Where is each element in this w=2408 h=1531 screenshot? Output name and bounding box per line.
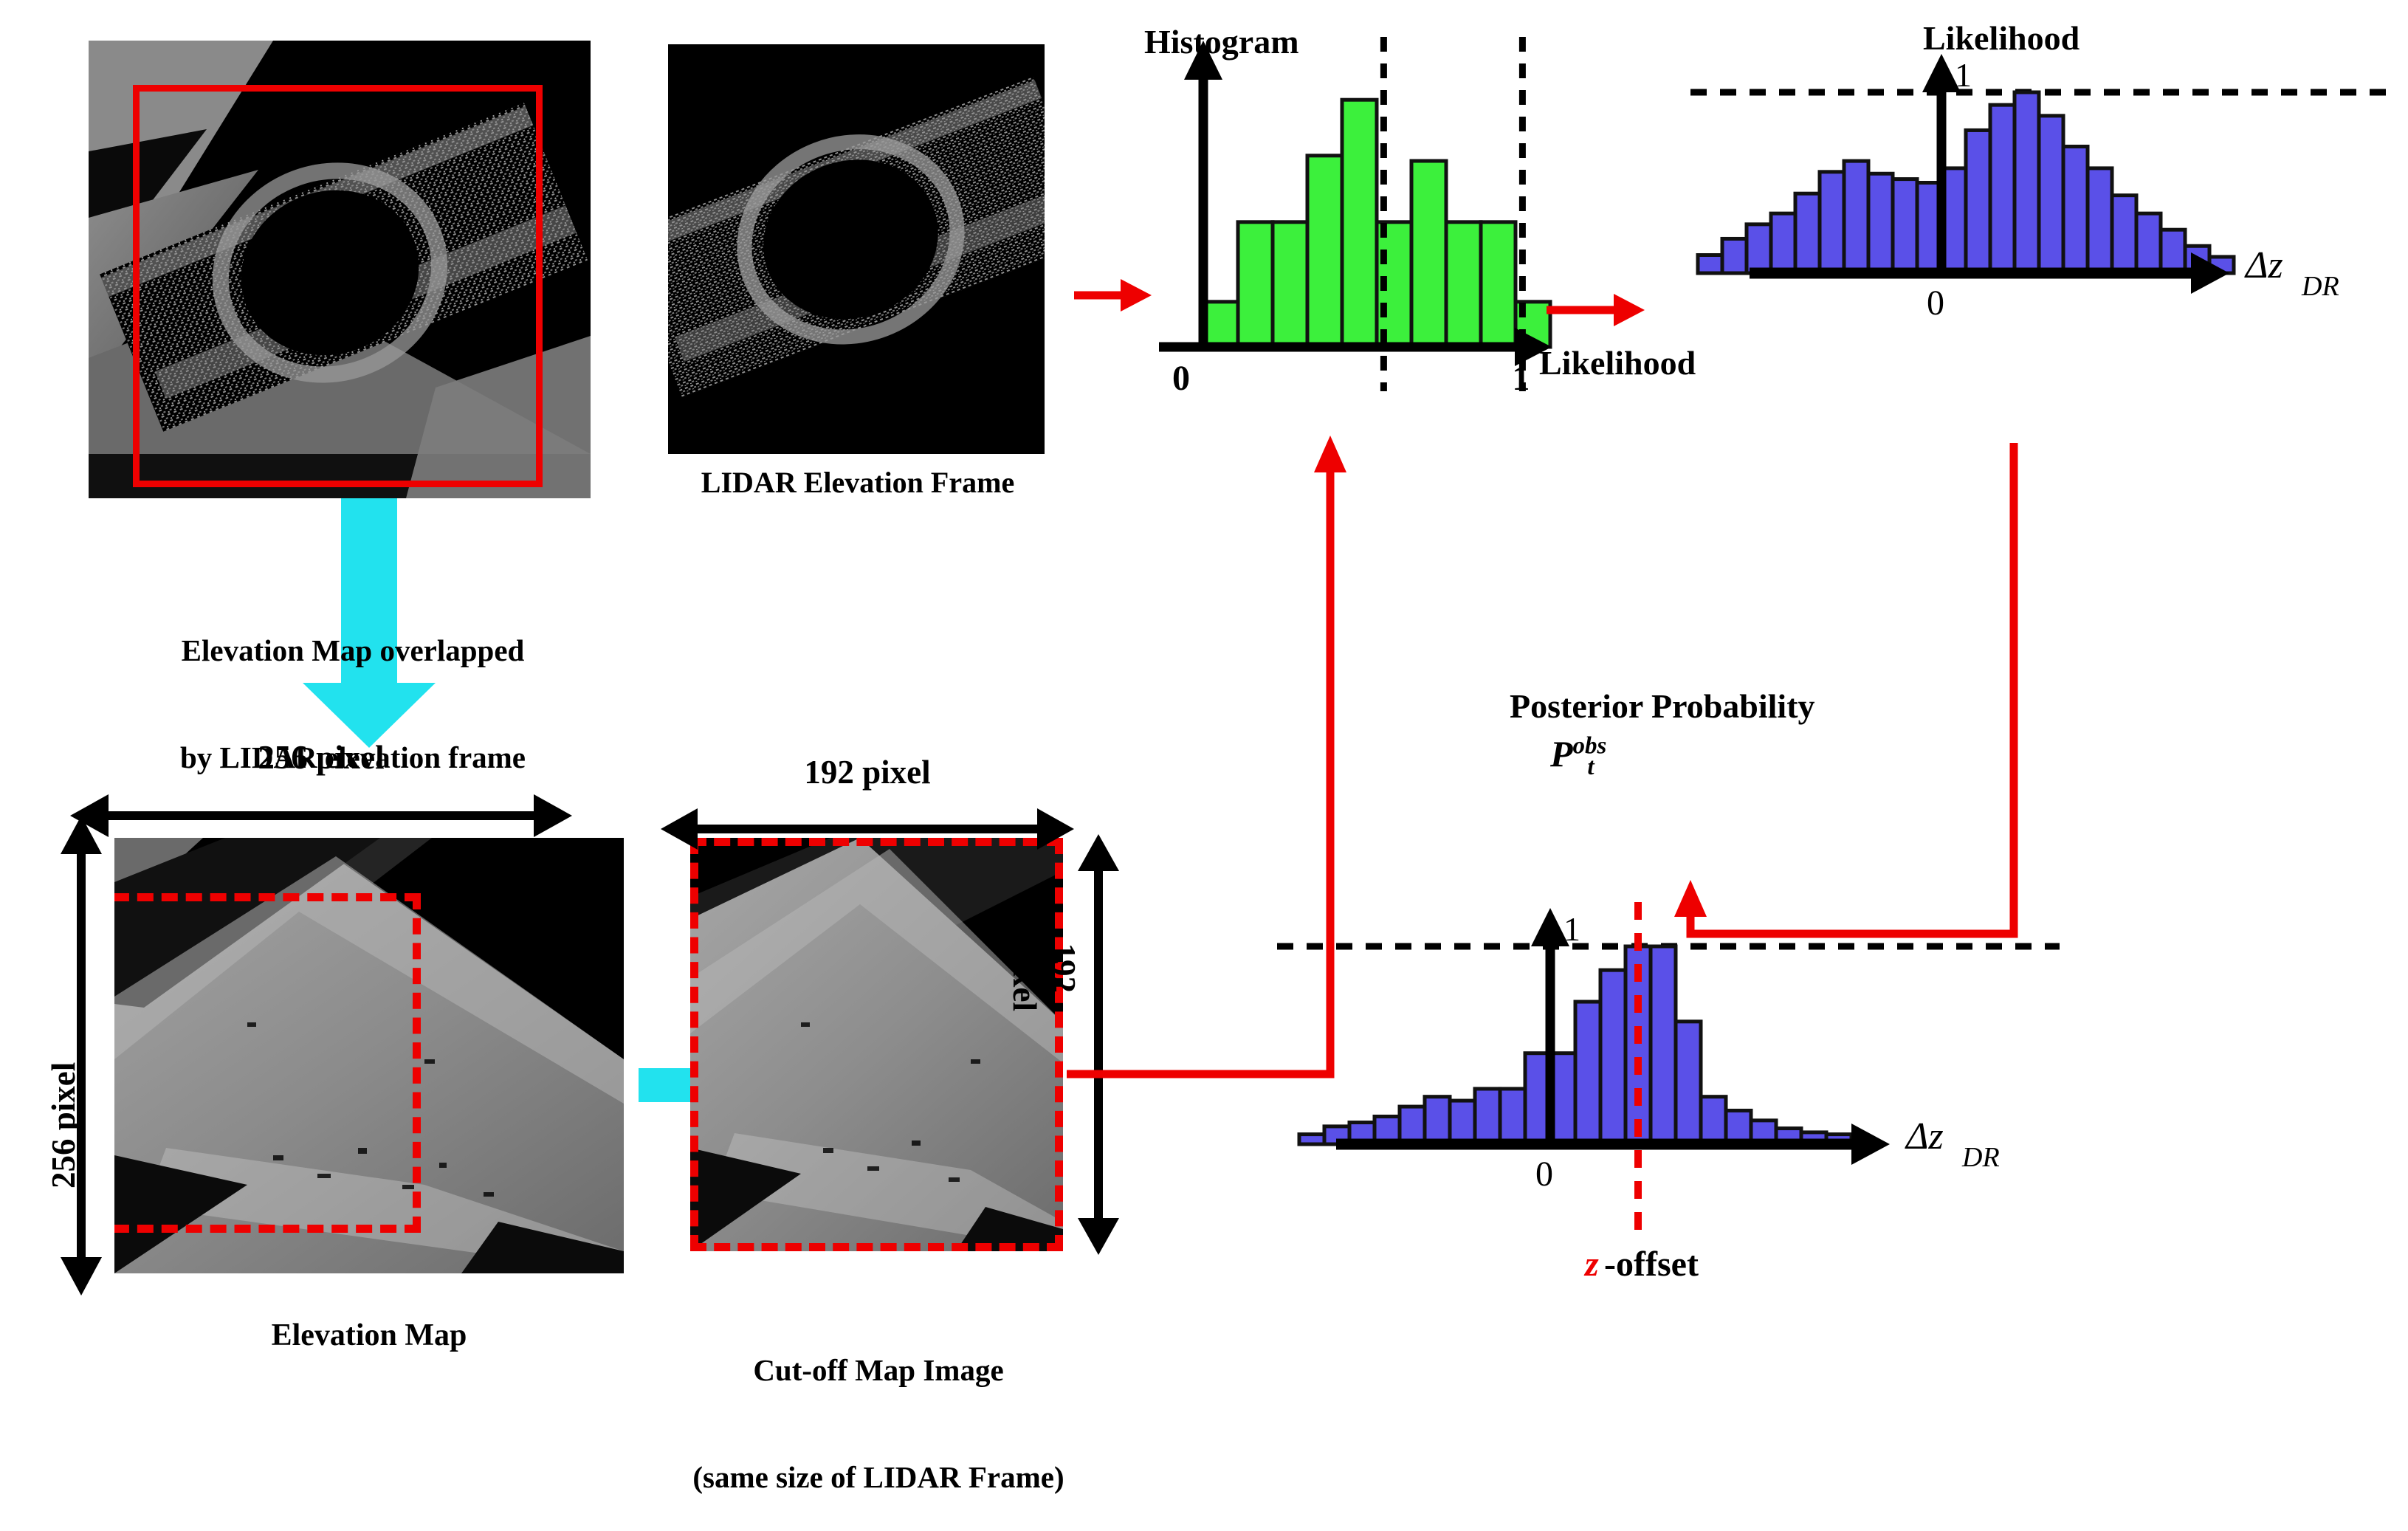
red-arrow-likelihood-to-posterior — [1674, 443, 2014, 934]
cutoff-label-line-2: (same size of LIDAR Frame) — [605, 1459, 1152, 1495]
red-arrow-frame-to-histogram — [1074, 279, 1152, 312]
red-arrow-histogram-to-likelihood — [1547, 294, 1645, 326]
red-arrow-cutoff-to-histogram — [1067, 436, 1346, 1074]
red-connectors — [0, 0, 2408, 1394]
